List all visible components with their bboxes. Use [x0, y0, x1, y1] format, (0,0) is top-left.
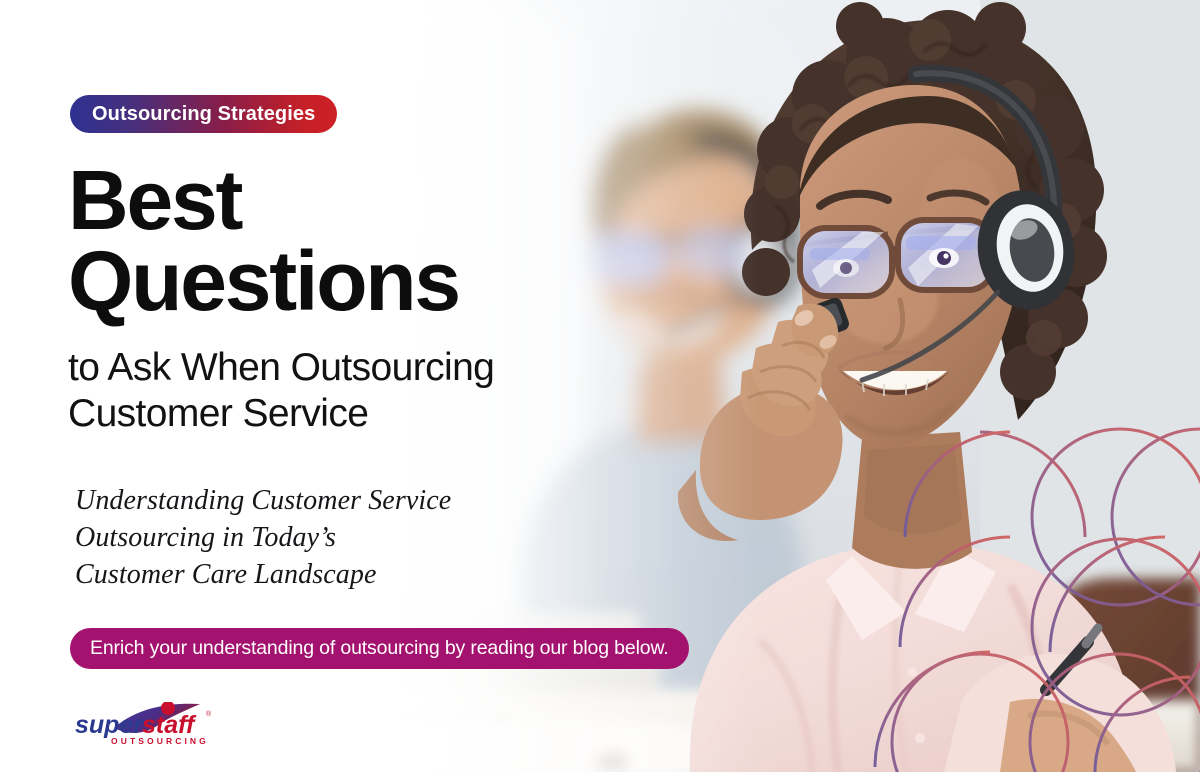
page-subtitle: to Ask When Outsourcing Customer Service: [68, 345, 708, 437]
page-kicker-line-1: Understanding Customer Service: [75, 483, 635, 520]
logo-word-secondary: staff: [142, 711, 197, 739]
logo-tagline: OUTSOURCING: [111, 736, 209, 746]
banner-content: Outsourcing Strategies Best Questions to…: [0, 0, 780, 772]
page-title-line-2: Questions: [68, 241, 688, 322]
page-kicker: Understanding Customer Service Outsourci…: [75, 483, 635, 594]
superstaff-logo[interactable]: super staff ® OUTSOURCING: [72, 702, 232, 748]
read-blog-cta-label: Enrich your understanding of outsourcing…: [90, 637, 669, 660]
logo-trademark: ®: [206, 710, 212, 718]
category-badge[interactable]: Outsourcing Strategies: [70, 95, 337, 133]
page-kicker-line-2: Outsourcing in Today’s: [75, 520, 635, 557]
page-kicker-line-3: Customer Care Landscape: [75, 557, 635, 594]
page-subtitle-line-2: Customer Service: [68, 391, 708, 437]
read-blog-cta-button[interactable]: Enrich your understanding of outsourcing…: [70, 628, 689, 669]
page-title: Best Questions: [68, 160, 688, 323]
category-badge-label: Outsourcing Strategies: [92, 103, 315, 126]
logo-word-primary: super: [75, 711, 144, 739]
blog-banner: Outsourcing Strategies Best Questions to…: [0, 0, 1200, 772]
page-title-line-1: Best: [68, 153, 241, 247]
page-subtitle-line-1: to Ask When Outsourcing: [68, 345, 708, 391]
